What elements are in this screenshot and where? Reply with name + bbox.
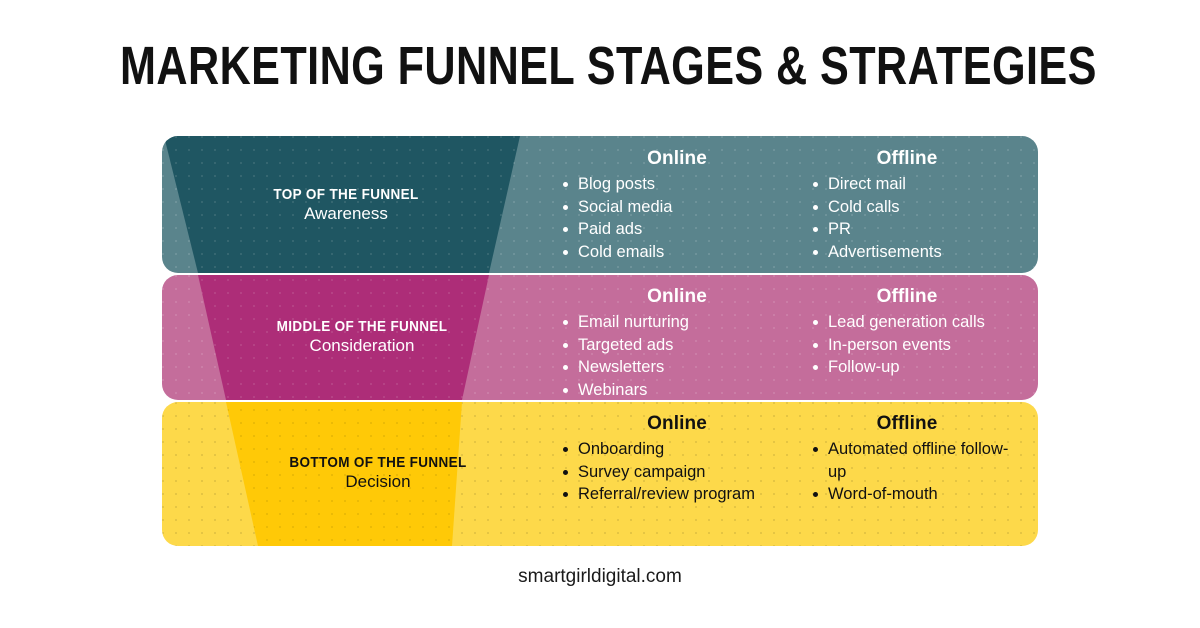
offline-list: Direct mailCold callsPRAdvertisements bbox=[802, 173, 1012, 263]
list-item: Newsletters bbox=[578, 356, 802, 379]
list-item: Social media bbox=[578, 196, 802, 219]
stage-label-decision: BOTTOM OF THE FUNNEL Decision bbox=[228, 455, 528, 491]
funnel-diagram: TOP OF THE FUNNEL Awareness MIDDLE OF TH… bbox=[162, 136, 1038, 546]
offline-header: Offline bbox=[802, 286, 1012, 308]
list-item: In-person events bbox=[828, 334, 1012, 357]
online-header: Online bbox=[552, 413, 802, 435]
stage-kicker: TOP OF THE FUNNEL bbox=[211, 187, 481, 203]
list-item: Referral/review program bbox=[578, 483, 802, 506]
stage-label-awareness: TOP OF THE FUNNEL Awareness bbox=[196, 187, 496, 223]
online-header: Online bbox=[552, 286, 802, 308]
list-item: Advertisements bbox=[828, 241, 1012, 264]
online-list: OnboardingSurvey campaignReferral/review… bbox=[552, 438, 802, 506]
offline-column: Offline Lead generation callsIn-person e… bbox=[802, 286, 1012, 401]
list-item: PR bbox=[828, 218, 1012, 241]
list-item: Cold emails bbox=[578, 241, 802, 264]
list-item: Survey campaign bbox=[578, 461, 802, 484]
list-item: Lead generation calls bbox=[828, 311, 1012, 334]
list-item: Email nurturing bbox=[578, 311, 802, 334]
list-item: Blog posts bbox=[578, 173, 802, 196]
strategy-columns-awareness: Online Blog postsSocial mediaPaid adsCol… bbox=[552, 148, 1012, 263]
online-header: Online bbox=[552, 148, 802, 170]
stage-kicker: BOTTOM OF THE FUNNEL bbox=[243, 455, 513, 471]
list-item: Webinars bbox=[578, 379, 802, 402]
online-column: Online Blog postsSocial mediaPaid adsCol… bbox=[552, 148, 802, 263]
strategy-columns-decision: Online OnboardingSurvey campaignReferral… bbox=[552, 413, 1012, 506]
stage-name: Consideration bbox=[212, 337, 512, 355]
offline-column: Offline Automated offline follow-upWord-… bbox=[802, 413, 1012, 506]
list-item: Automated offline follow-up bbox=[828, 438, 1012, 483]
stage-name: Awareness bbox=[196, 205, 496, 223]
list-item: Direct mail bbox=[828, 173, 1012, 196]
online-list: Blog postsSocial mediaPaid adsCold email… bbox=[552, 173, 802, 263]
footer-website: smartgirldigital.com bbox=[0, 566, 1200, 588]
list-item: Paid ads bbox=[578, 218, 802, 241]
stage-name: Decision bbox=[228, 473, 528, 491]
offline-list: Lead generation callsIn-person eventsFol… bbox=[802, 311, 1012, 379]
online-list: Email nurturingTargeted adsNewslettersWe… bbox=[552, 311, 802, 401]
strategy-columns-consideration: Online Email nurturingTargeted adsNewsle… bbox=[552, 286, 1012, 401]
stage-label-consideration: MIDDLE OF THE FUNNEL Consideration bbox=[212, 319, 512, 355]
offline-header: Offline bbox=[802, 413, 1012, 435]
list-item: Targeted ads bbox=[578, 334, 802, 357]
offline-column: Offline Direct mailCold callsPRAdvertise… bbox=[802, 148, 1012, 263]
list-item: Word-of-mouth bbox=[828, 483, 1012, 506]
list-item: Onboarding bbox=[578, 438, 802, 461]
offline-header: Offline bbox=[802, 148, 1012, 170]
list-item: Follow-up bbox=[828, 356, 1012, 379]
online-column: Online Email nurturingTargeted adsNewsle… bbox=[552, 286, 802, 401]
online-column: Online OnboardingSurvey campaignReferral… bbox=[552, 413, 802, 506]
page-title: MARKETING FUNNEL STAGES & STRATEGIES bbox=[120, 39, 1080, 93]
stage-kicker: MIDDLE OF THE FUNNEL bbox=[227, 319, 497, 335]
list-item: Cold calls bbox=[828, 196, 1012, 219]
offline-list: Automated offline follow-upWord-of-mouth bbox=[802, 438, 1012, 506]
